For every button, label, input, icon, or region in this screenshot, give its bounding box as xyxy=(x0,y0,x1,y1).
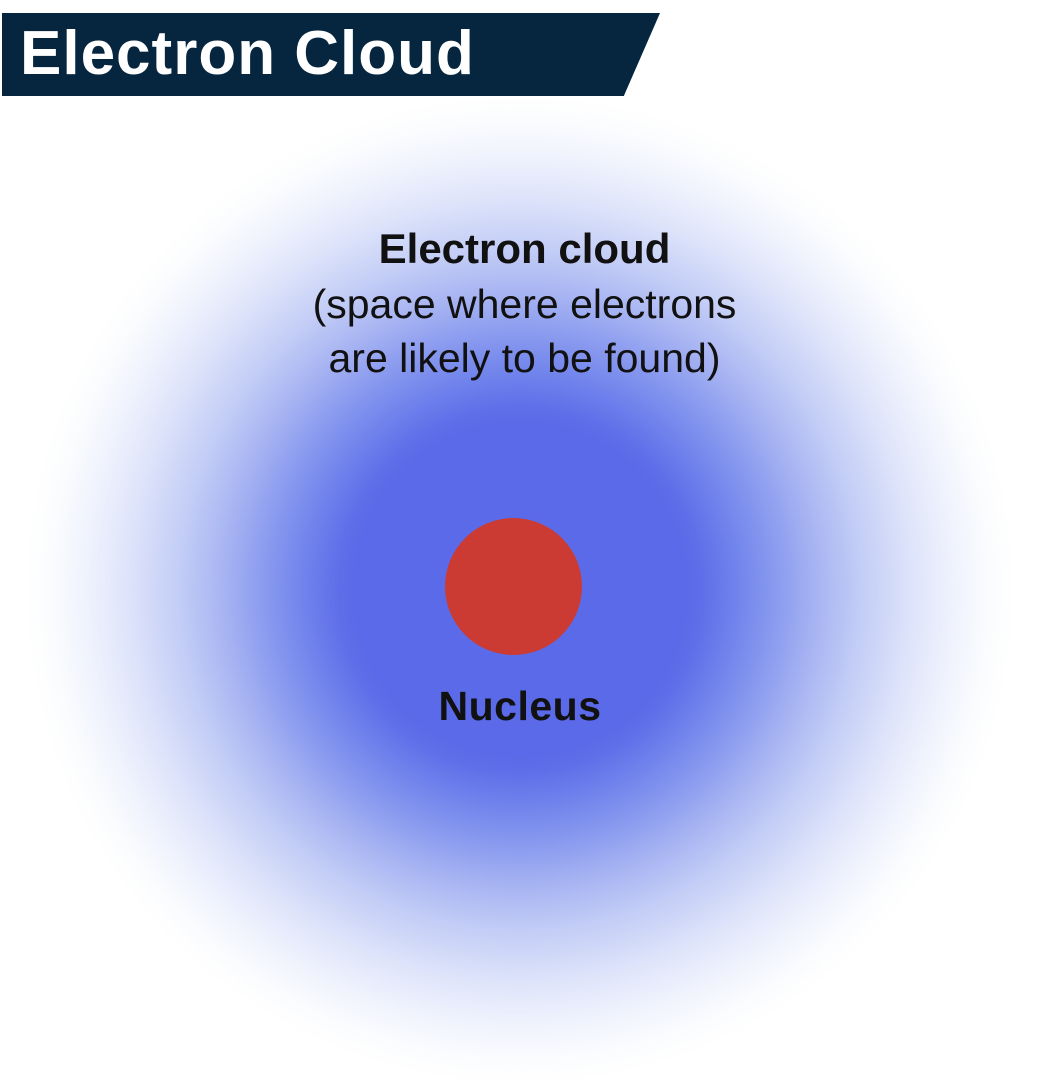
electron-cloud-subtitle-line-1: (space where electrons xyxy=(0,284,1049,325)
nucleus-label: Nucleus xyxy=(0,686,1040,727)
electron-cloud-subtitle-line-2: are likely to be found) xyxy=(0,338,1049,379)
nucleus-circle xyxy=(445,518,582,655)
title-banner: Electron Cloud xyxy=(2,13,660,96)
electron-cloud-heading: Electron cloud xyxy=(0,228,1049,270)
page-title: Electron Cloud xyxy=(20,22,475,84)
diagram-canvas: Electron cloud (space where electrons ar… xyxy=(0,0,1049,1090)
